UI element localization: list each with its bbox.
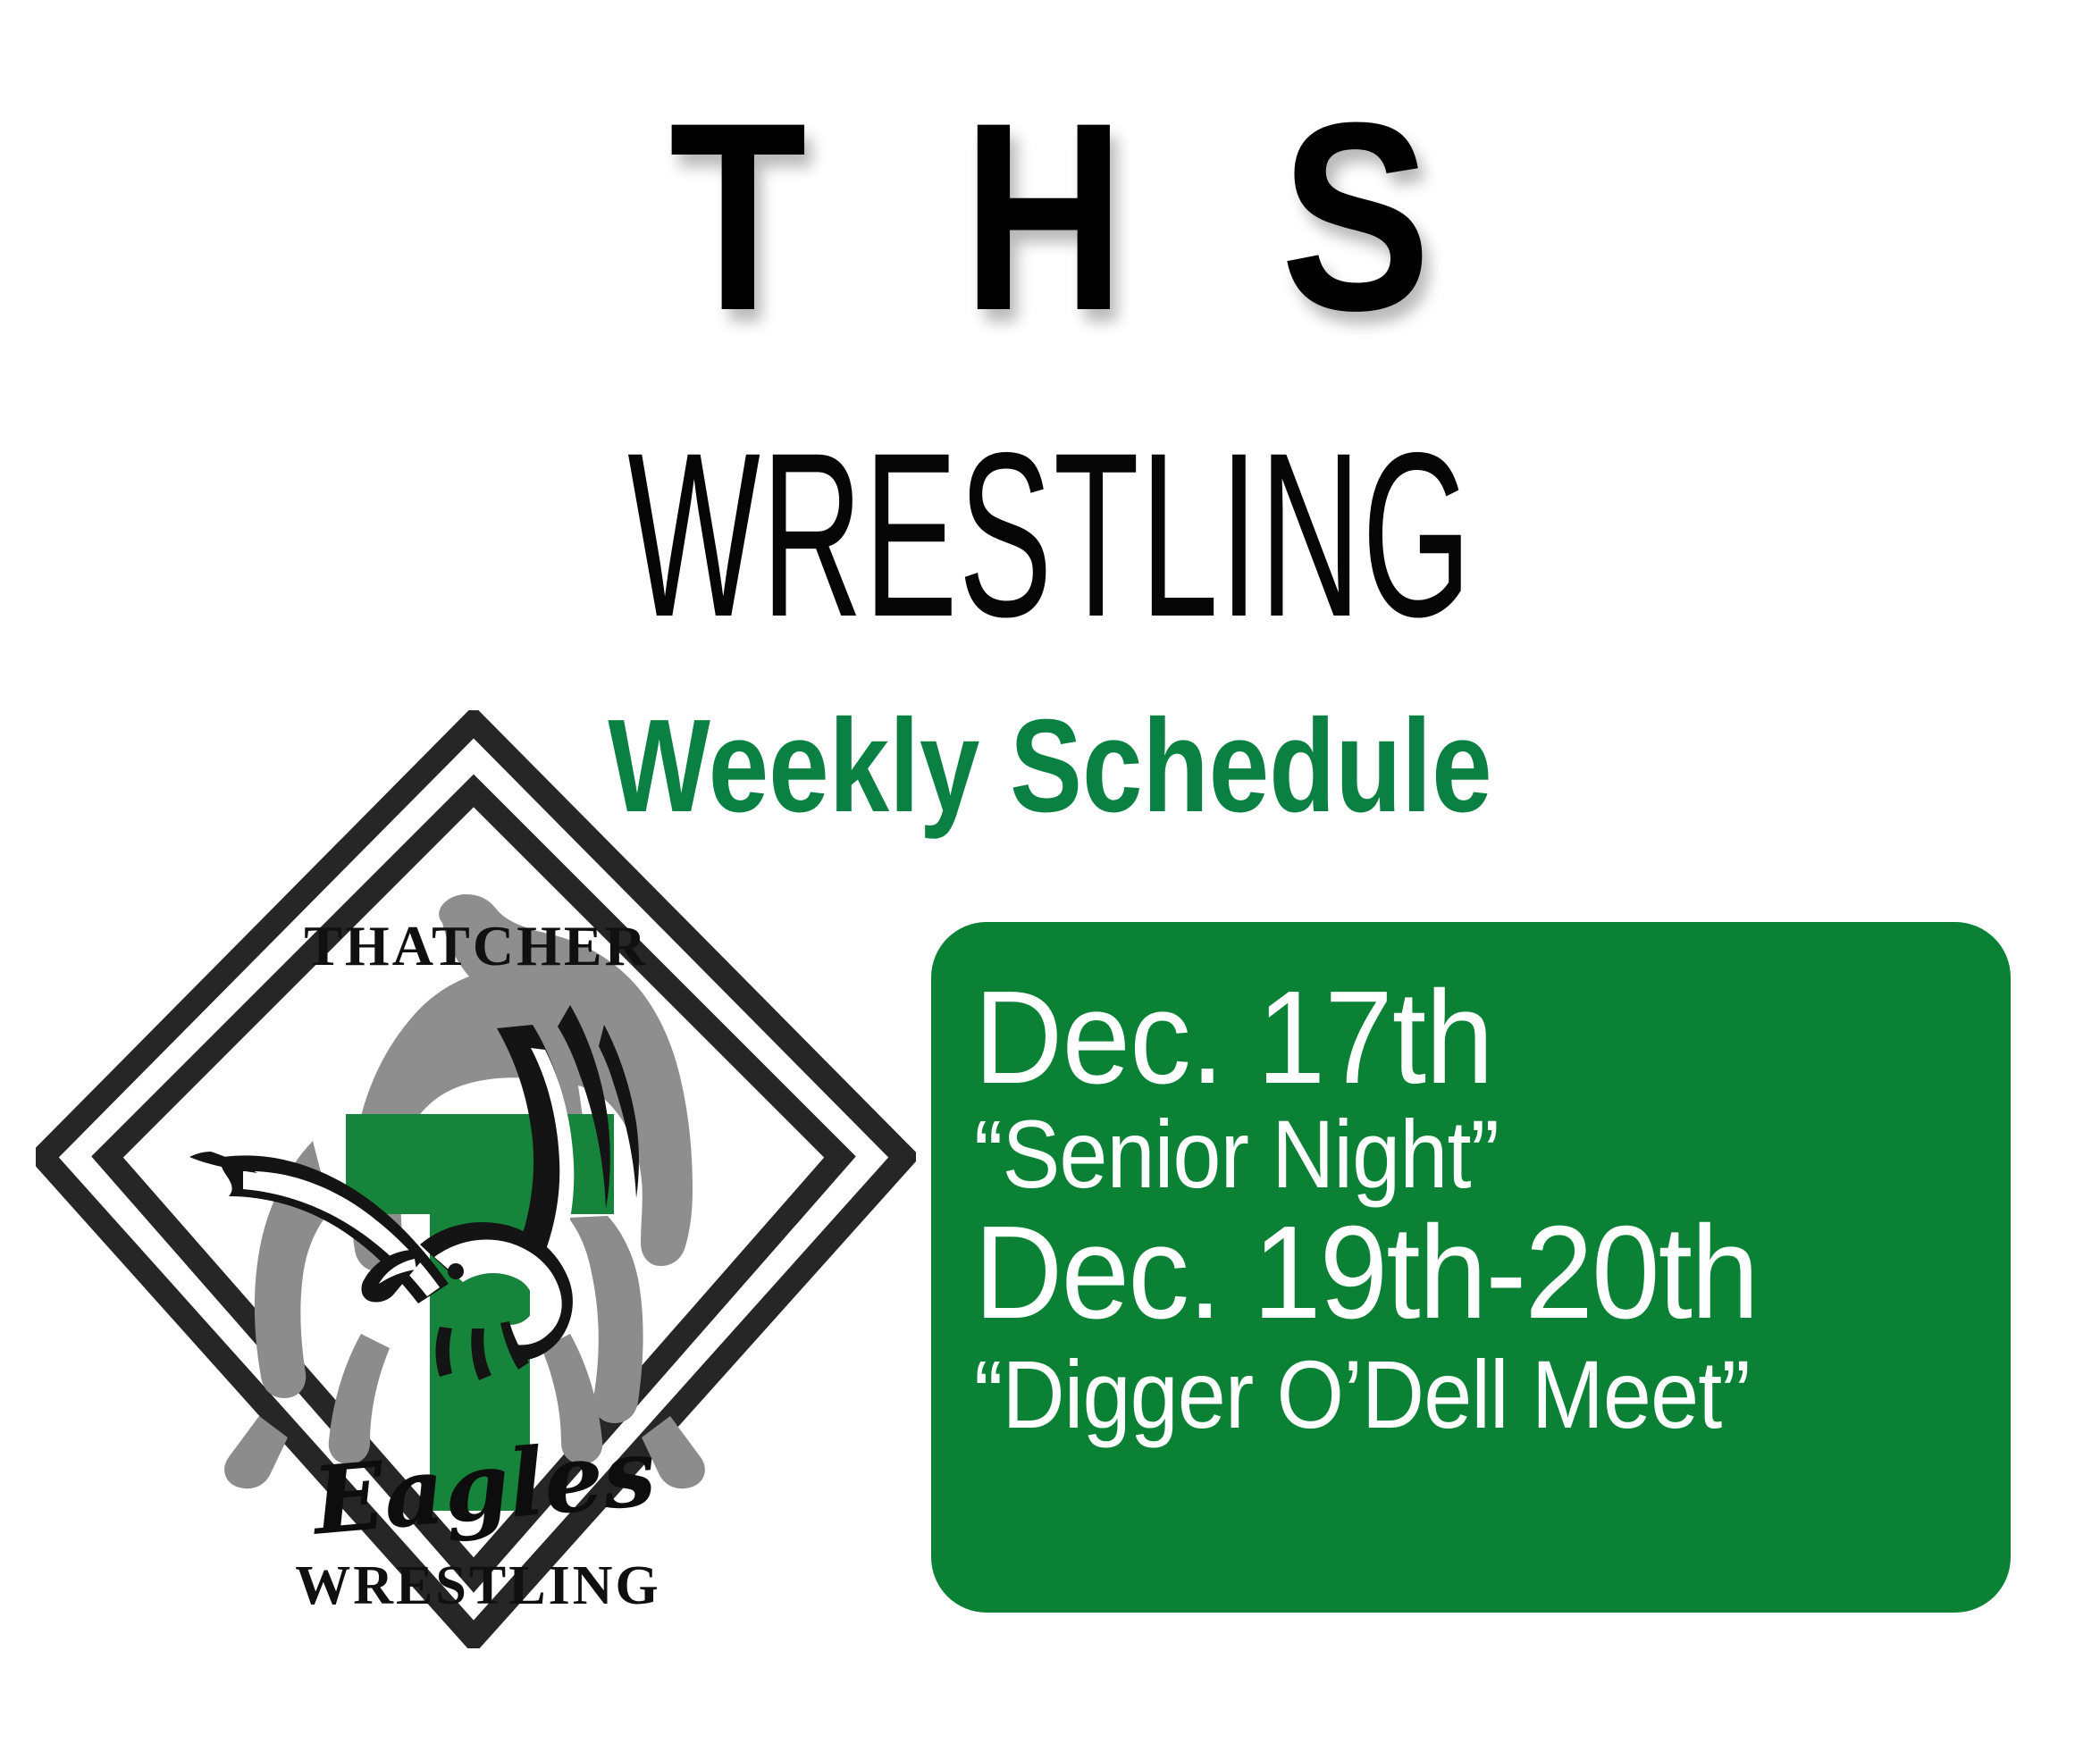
logo-top-text: THATCHER	[304, 914, 649, 977]
schedule-card: Dec. 17th “Senior Night” Dec. 19th-20th …	[931, 922, 2011, 1613]
team-logo: THATCHER Eagles WRESTLING	[36, 710, 916, 1648]
logo-bottom-text: WRESTLING	[295, 1555, 660, 1616]
poster-canvas: T H S WRESTLING Weekly Schedule	[0, 0, 2100, 1760]
page-title: T H S	[168, 82, 1932, 350]
schedule-date-2: Dec. 19th-20th	[974, 1206, 1902, 1340]
schedule-label-2: “Digger O’Dell Meet”	[974, 1340, 1871, 1449]
schedule-date-1: Dec. 17th	[974, 974, 1902, 1102]
schedule-label-1: “Senior Night”	[974, 1102, 1871, 1206]
sport-title: WRESTLING	[420, 418, 1680, 652]
